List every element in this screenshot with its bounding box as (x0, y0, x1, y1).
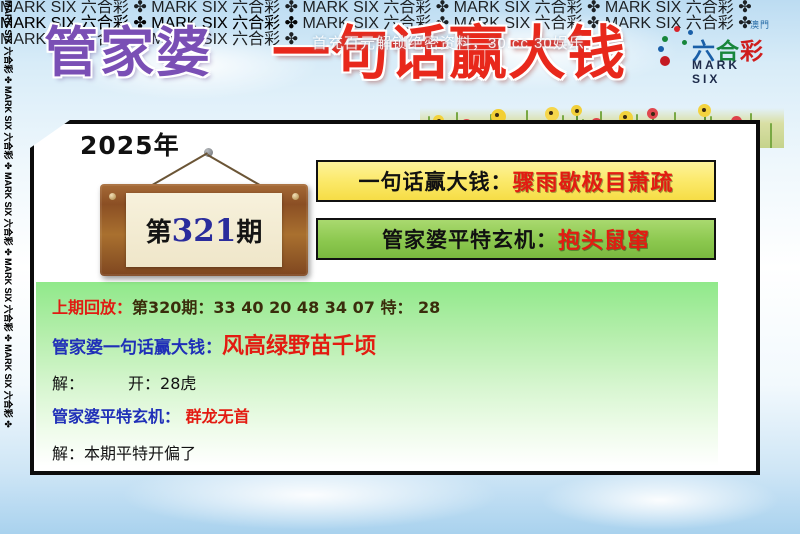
mark-six-logo: 澳門 六合彩 MARK SIX (658, 16, 774, 78)
banner-value: 骤雨歇极目萧疏 (512, 165, 673, 197)
border-pattern-text: MARK SIX 六合彩 ✤ (0, 0, 151, 16)
prev-phrase-value: 风高绿野苗千顷 (222, 334, 376, 359)
border-pattern-text: MARK SIX 六合彩 ✤ (302, 0, 453, 16)
special-number: 28 (418, 298, 440, 317)
banner-label: 一句话赢大钱： (358, 166, 512, 196)
border-pattern-text: MARK SIX 六合彩 ✤ (3, 86, 13, 172)
prev-pingte-value: 群龙无首 (186, 407, 250, 426)
wooden-plaque: 第321期 (100, 184, 308, 276)
hanging-sign: 第321期 (96, 148, 316, 283)
flower-yellow (698, 104, 711, 117)
border-pattern-text: MARK SIX 六合彩 ✤ (605, 0, 752, 16)
banner-label: 管家婆平特玄机： (382, 224, 558, 254)
issue-number: 321 (172, 213, 237, 249)
logo-dot (662, 36, 668, 42)
special-label: 特： (380, 298, 412, 317)
replay-row: 上期回放：第320期：33 40 20 48 34 07 特： 28 (52, 294, 702, 318)
issue-prefix: 第 (146, 218, 172, 248)
logo-english-name: MARK SIX (692, 58, 774, 86)
border-strip-top: MARK SIX 六合彩 ✤ MARK SIX 六合彩 ✤ MARK SIX 六… (0, 0, 800, 16)
flower-yellow (545, 107, 559, 121)
banner-ping-te-xuan-ji: 管家婆平特玄机：抱头鼠窜 (316, 218, 716, 260)
explain1-value: 开：28虎 (128, 374, 196, 393)
grass-blade (770, 123, 772, 148)
border-pattern-text: MARK SIX 六合彩 ✤ (3, 258, 13, 344)
poster-root: MARK SIX 六合彩 ✤ MARK SIX 六合彩 ✤ MARK SIX 六… (0, 0, 800, 534)
border-pattern-text: MARK SIX 六合彩 ✤ (454, 0, 605, 16)
replay-label: 上期回放： (52, 298, 132, 317)
year-label: 2025年 (80, 126, 180, 162)
logo-dot (682, 40, 687, 45)
explain1-label: 解： (52, 374, 84, 393)
logo-region-label: 澳門 (750, 18, 770, 31)
prev-phrase-label: 管家婆一句话赢大钱： (52, 338, 222, 358)
flower-red (647, 108, 658, 119)
replay-numbers: 33 40 20 48 34 07 (213, 298, 374, 317)
explain-row-2: 解：本期平特开偏了 (52, 440, 702, 464)
border-pattern-text: MARK SIX 六合彩 ✤ (3, 172, 13, 258)
results-panel: 上期回放：第320期：33 40 20 48 34 07 特： 28 管家婆一句… (36, 282, 718, 466)
prev-pingte-row: 管家婆平特玄机： 群龙无首 (52, 403, 702, 427)
border-pattern-text: MARK SIX 六合彩 ✤ (3, 0, 13, 86)
logo-dot (658, 46, 664, 52)
logo-dot (660, 56, 670, 66)
brand-title: 管家婆 (44, 24, 212, 82)
prev-phrase-row: 管家婆一句话赢大钱：风高绿野苗千顷 (52, 328, 702, 360)
border-pattern-text: MARK SIX 六合彩 ✤ (151, 0, 302, 16)
flower-yellow (571, 105, 582, 116)
issue-number-text: 第321期 (146, 212, 263, 249)
issue-suffix: 期 (236, 218, 262, 248)
explain-row-1: 解：开：28虎 (52, 370, 702, 394)
border-pattern-text: MARK SIX 六合彩 ✤ (3, 344, 13, 428)
banner-value: 抱头鼠窜 (558, 223, 650, 255)
replay-issue: 第320期： (132, 298, 213, 317)
banner-yi-ju-hua: 一句话赢大钱：骤雨歇极目萧疏 (316, 160, 716, 202)
sign-paper: 第321期 (126, 193, 282, 267)
logo-dot (674, 26, 680, 32)
prev-pingte-label: 管家婆平特玄机： (52, 407, 180, 426)
cloud-decoration (540, 470, 780, 530)
watermark-text: 首充百元解锁绝密资料，30.cc 30娱乐 (312, 32, 585, 53)
